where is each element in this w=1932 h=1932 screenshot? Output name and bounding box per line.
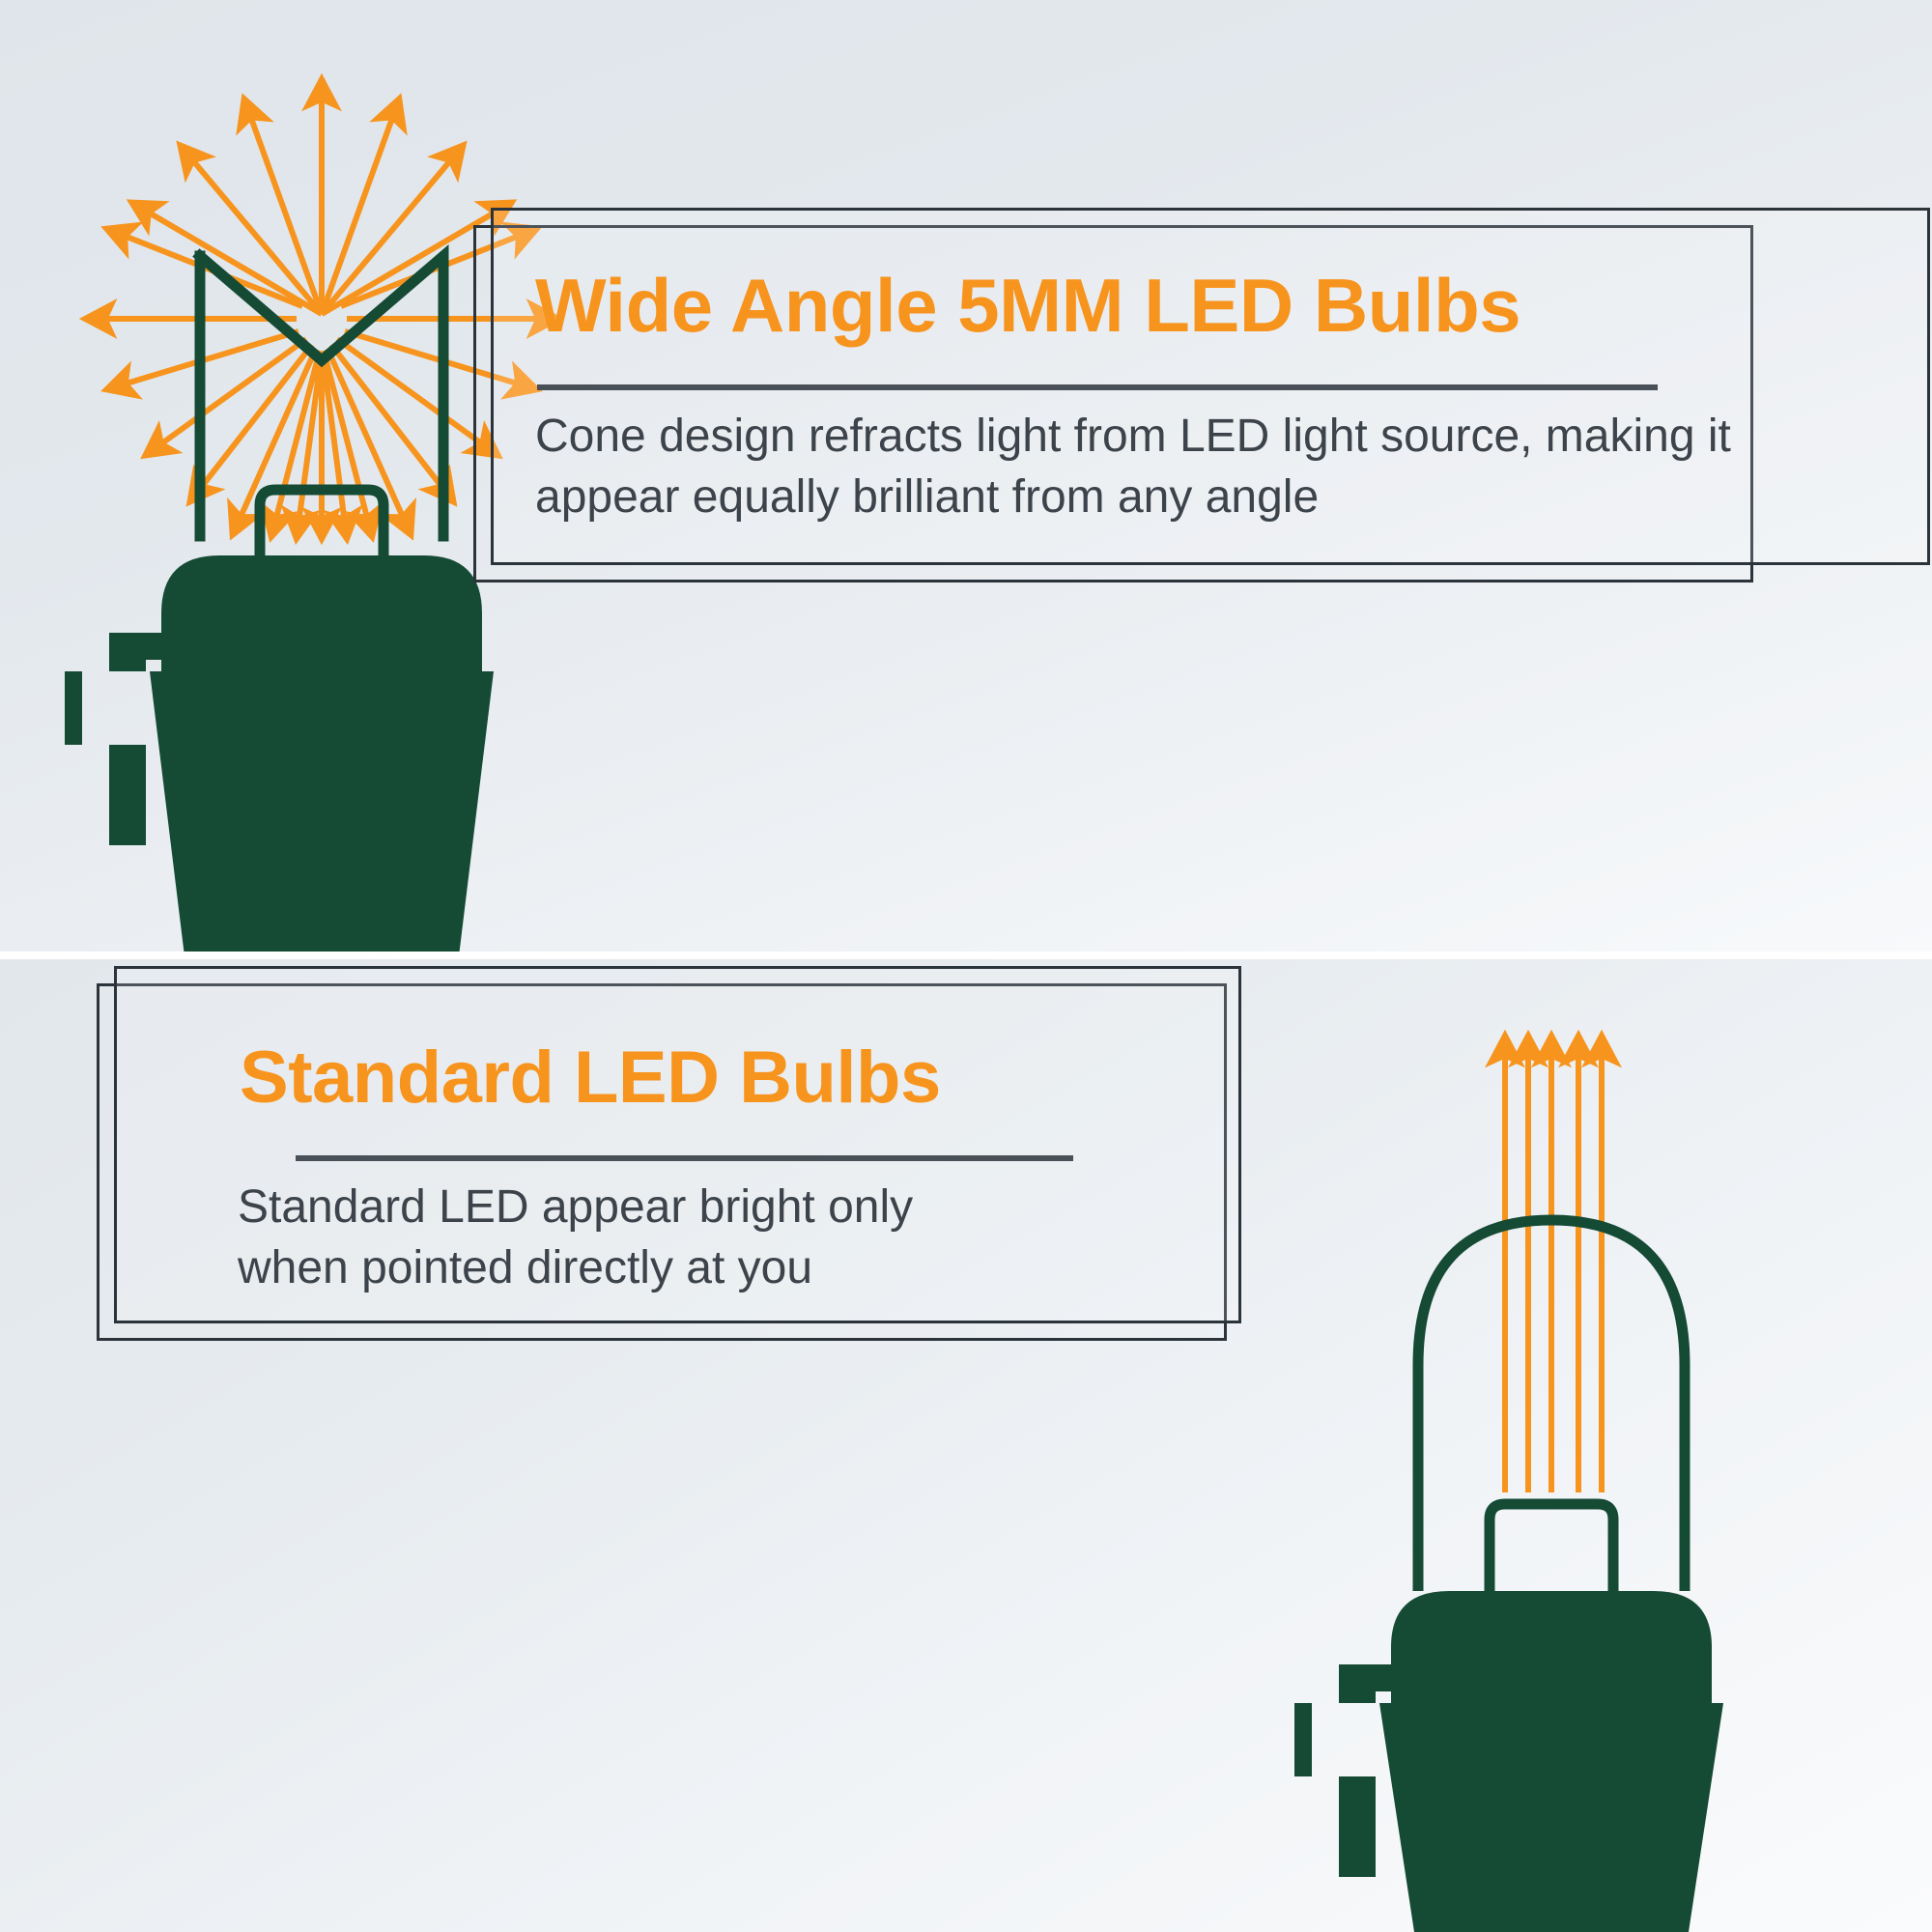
card-content: Standard LED Bulbs Standard LED appear b…	[114, 966, 1241, 1323]
wide-angle-title: Wide Angle 5MM LED Bulbs	[535, 268, 1520, 343]
standard-title: Standard LED Bulbs	[240, 1041, 941, 1115]
standard-description-line1: Standard LED appear bright only	[238, 1181, 913, 1233]
standard-description: Standard LED appear bright onlywhen poin…	[238, 1177, 1107, 1299]
bulb-socket	[1294, 1591, 1723, 1932]
title-divider-rule	[296, 1155, 1073, 1161]
infographic-root: Wide Angle 5MM LED Bulbs Cone design ref…	[0, 0, 1932, 1932]
light-ray-group	[1505, 1037, 1602, 1492]
panel-separator	[0, 952, 1932, 959]
panel-standard: Standard LED Bulbs Standard LED appear b…	[0, 959, 1932, 1932]
standard-led-bulb-diagram	[1198, 980, 1777, 1932]
wide-angle-text-card: Wide Angle 5MM LED Bulbs Cone design ref…	[473, 208, 1932, 787]
bulb-socket	[65, 555, 494, 952]
wide-angle-description: Cone design refracts light from LED ligh…	[535, 406, 1743, 528]
filament-bracket	[1490, 1504, 1613, 1591]
title-divider-rule	[537, 384, 1658, 390]
standard-description-line2: when pointed directly at you	[238, 1242, 812, 1293]
standard-text-card: Standard LED Bulbs Standard LED appear b…	[97, 966, 1256, 1372]
card-content: Wide Angle 5MM LED Bulbs Cone design ref…	[491, 208, 1930, 565]
panel-wide-angle: Wide Angle 5MM LED Bulbs Cone design ref…	[0, 0, 1932, 952]
